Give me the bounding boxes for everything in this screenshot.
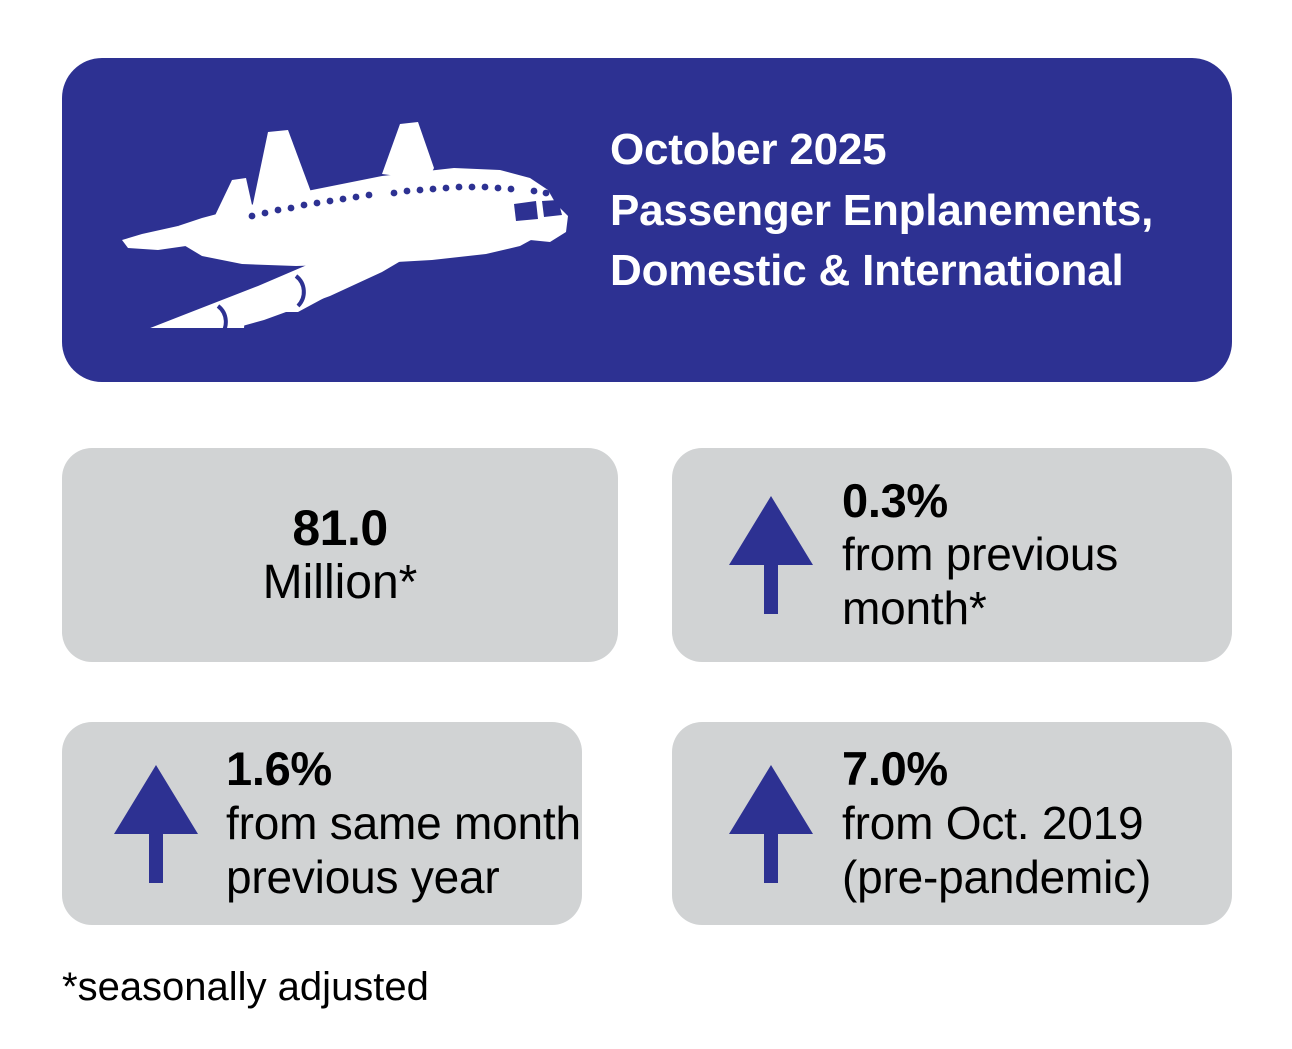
arrow-up-icon xyxy=(62,765,226,883)
stat-card-change-previous-month: 0.3% from previous month* xyxy=(672,448,1232,662)
stat-desc-line-1: from same month xyxy=(226,797,582,851)
stat-card-content: 0.3% from previous month* xyxy=(672,448,1232,662)
arrow-up-icon xyxy=(672,496,842,614)
banner-title: October 2025 Passenger Enplanements, Dom… xyxy=(610,120,1210,302)
stat-card-content: 81.0 Million* xyxy=(62,448,618,662)
footnote: *seasonally adjusted xyxy=(62,963,429,1011)
stat-card-total-enplanements: 81.0 Million* xyxy=(62,448,618,662)
stat-percent: 0.3% xyxy=(842,474,1232,529)
banner-title-line-1: October 2025 xyxy=(610,120,1210,181)
stat-unit: Million* xyxy=(263,556,418,611)
stat-card-text: 1.6% from same month previous year xyxy=(226,742,582,904)
stat-desc-line-1: from previous xyxy=(842,528,1232,582)
stat-card-change-previous-year: 1.6% from same month previous year xyxy=(62,722,582,925)
stat-desc-line-2: (pre-pandemic) xyxy=(842,851,1232,905)
stat-card-text: 0.3% from previous month* xyxy=(842,474,1232,636)
banner-title-line-3: Domestic & International xyxy=(610,241,1210,302)
banner-title-line-2: Passenger Enplanements, xyxy=(610,181,1210,242)
stat-card-text: 7.0% from Oct. 2019 (pre-pandemic) xyxy=(842,742,1232,904)
airplane-icon xyxy=(82,108,582,328)
stat-card-content: 7.0% from Oct. 2019 (pre-pandemic) xyxy=(672,722,1232,925)
stat-desc-line-2: month* xyxy=(842,582,1232,636)
stat-desc-line-1: from Oct. 2019 xyxy=(842,797,1232,851)
stat-desc-line-2: previous year xyxy=(226,851,582,905)
arrow-up-icon xyxy=(672,765,842,883)
stat-card-content: 1.6% from same month previous year xyxy=(62,722,582,925)
stat-card-change-vs-2019: 7.0% from Oct. 2019 (pre-pandemic) xyxy=(672,722,1232,925)
stat-value: 81.0 xyxy=(292,500,387,556)
stat-percent: 7.0% xyxy=(842,742,1232,797)
header-banner: October 2025 Passenger Enplanements, Dom… xyxy=(62,58,1232,382)
stat-percent: 1.6% xyxy=(226,742,582,797)
